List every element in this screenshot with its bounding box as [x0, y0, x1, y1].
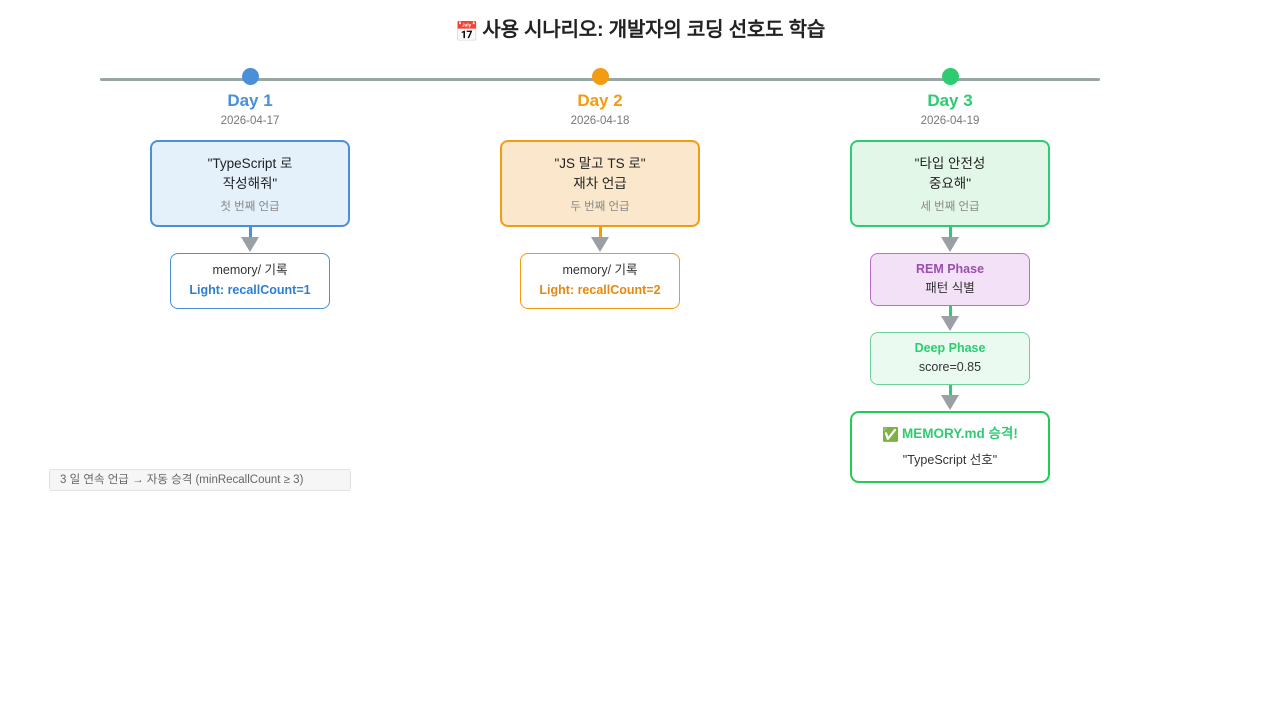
day-2-memory-recall-count: Light: recallCount=2: [529, 282, 671, 299]
deep-phase-title: Deep Phase: [879, 340, 1021, 357]
day-3-connector-arrow-2: [941, 306, 959, 332]
memory-promotion-subtitle: "TypeScript 선호": [860, 452, 1040, 469]
timeline-dot-day-2: [592, 68, 609, 85]
rem-phase-box: REM Phase 패턴 식별: [870, 253, 1030, 306]
memory-promotion-title: ✅MEMORY.md 승격!: [860, 424, 1040, 444]
day-3-quote-text: "타입 안전성 중요해": [862, 154, 1038, 194]
deep-phase-box: Deep Phase score=0.85: [870, 332, 1030, 385]
day-2-node-column: "JS 말고 TS 로" 재차 언급 두 번째 언급 memory/ 기록 Li…: [460, 140, 740, 309]
timeline-day-3-header: Day 3 2026-04-19: [810, 68, 1090, 128]
promotion-rule-note: 3 일 연속 언급 → 자동 승격 (minRecallCount ≥ 3): [49, 469, 351, 491]
scenario-timeline-diagram: 📅사용 시나리오: 개발자의 코딩 선호도 학습 Day 1 2026-04-1…: [0, 0, 1280, 720]
day-3-node-column: "타입 안전성 중요해" 세 번째 언급 REM Phase 패턴 식별 Dee…: [810, 140, 1090, 483]
timeline-dot-day-1: [242, 68, 259, 85]
day-3-quote-subtitle: 세 번째 언급: [862, 200, 1038, 215]
deep-phase-score: score=0.85: [879, 359, 1021, 376]
day-3-connector-arrow-1: [941, 227, 959, 253]
rem-phase-subtitle: 패턴 식별: [879, 280, 1021, 297]
calendar-icon: 📅: [455, 22, 478, 43]
day-1-node-column: "TypeScript 로 작성해줘" 첫 번째 언급 memory/ 기록 L…: [110, 140, 390, 309]
day-1-memory-label: memory/ 기록: [179, 262, 321, 279]
day-2-memory-box: memory/ 기록 Light: recallCount=2: [520, 253, 680, 309]
day-2-quote-subtitle: 두 번째 언급: [512, 200, 688, 215]
timeline-day-1-label: Day 1: [110, 91, 390, 111]
day-1-quote-subtitle: 첫 번째 언급: [162, 200, 338, 215]
page-title: 📅사용 시나리오: 개발자의 코딩 선호도 학습: [0, 13, 1280, 44]
day-2-quote-text: "JS 말고 TS 로" 재차 언급: [512, 154, 688, 194]
timeline-day-2-date: 2026-04-18: [460, 114, 740, 128]
day-2-connector-arrow: [591, 227, 609, 253]
day-3-connector-arrow-3: [941, 385, 959, 411]
day-3-quote-card: "타입 안전성 중요해" 세 번째 언급: [850, 140, 1050, 227]
rem-phase-title: REM Phase: [879, 261, 1021, 278]
day-1-connector-arrow: [241, 227, 259, 253]
day-1-quote-text: "TypeScript 로 작성해줘": [162, 154, 338, 194]
timeline-day-1-date: 2026-04-17: [110, 114, 390, 128]
day-1-quote-card: "TypeScript 로 작성해줘" 첫 번째 언급: [150, 140, 350, 227]
timeline-day-2-header: Day 2 2026-04-18: [460, 68, 740, 128]
timeline-day-1-header: Day 1 2026-04-17: [110, 68, 390, 128]
timeline-day-3-date: 2026-04-19: [810, 114, 1090, 128]
check-mark-button-icon: ✅: [882, 427, 899, 442]
day-1-memory-recall-count: Light: recallCount=1: [179, 282, 321, 299]
timeline-day-3-label: Day 3: [810, 91, 1090, 111]
day-2-memory-label: memory/ 기록: [529, 262, 671, 279]
day-2-quote-card: "JS 말고 TS 로" 재차 언급 두 번째 언급: [500, 140, 700, 227]
timeline-day-2-label: Day 2: [460, 91, 740, 111]
memory-promotion-box: ✅MEMORY.md 승격! "TypeScript 선호": [850, 411, 1050, 483]
day-1-memory-box: memory/ 기록 Light: recallCount=1: [170, 253, 330, 309]
memory-promotion-title-text: MEMORY.md 승격!: [902, 426, 1018, 441]
page-title-text: 사용 시나리오: 개발자의 코딩 선호도 학습: [482, 19, 825, 41]
timeline-dot-day-3: [942, 68, 959, 85]
